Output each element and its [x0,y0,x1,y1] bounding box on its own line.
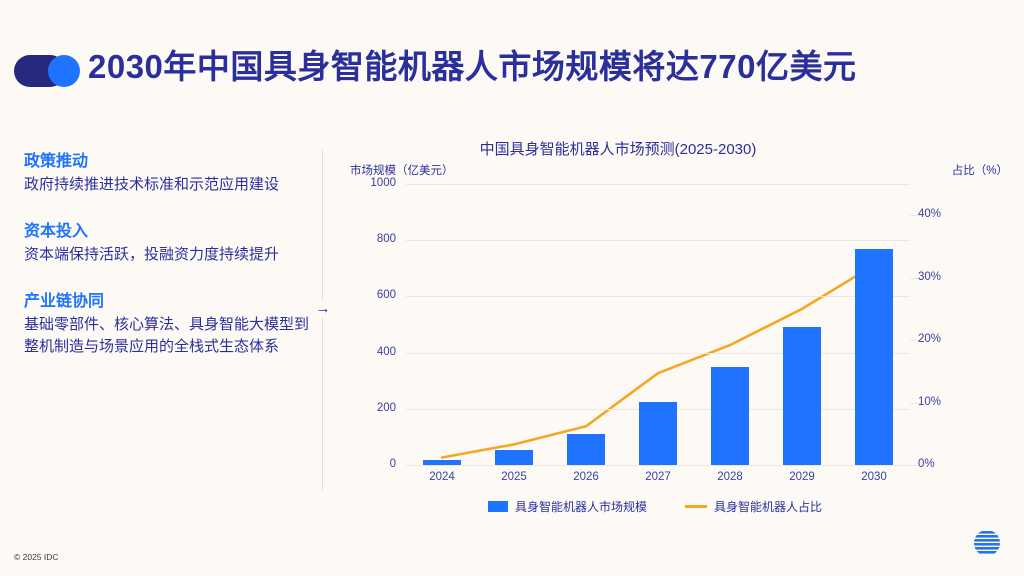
x-axis-tick: 2024 [412,471,472,483]
gridline [406,353,910,354]
insight-title: 产业链协同 [24,290,314,314]
page-title: 2030年中国具身智能机器人市场规模将达770亿美元 [88,40,856,88]
plot-area: 020040060080010000%10%20%30%40%202420252… [406,184,910,465]
chart-legend: 具身智能机器人市场规模 具身智能机器人占比 [488,498,822,515]
gridline [406,184,910,185]
insight-body: 基础零部件、核心算法、具身智能大模型到整机制造与场景应用的全栈式生态体系 [24,314,314,358]
legend-line-label: 具身智能机器人占比 [714,498,822,515]
x-axis-tick: 2029 [772,471,832,483]
copyright-text: © 2025 IDC [14,552,59,562]
insight-item-2: 资本投入 资本端保持活跃，投融资力度持续提升 [24,220,314,266]
chart-title: 中国具身智能机器人市场预测(2025-2030) [338,138,898,159]
y2-axis-tick: 0% [918,458,935,470]
y-axis-tick: 400 [336,346,404,358]
insight-body: 政府持续推进技术标准和示范应用建设 [24,174,314,196]
insight-title: 政策推动 [24,150,314,174]
legend-item-line: 具身智能机器人占比 [685,498,822,515]
bar [423,460,461,465]
arrow-right-icon: → [314,300,332,318]
gridline [406,465,910,466]
bar [711,367,749,465]
y2-axis-tick: 40% [918,208,941,220]
page-header: 2030年中国具身智能机器人市场规模将达770亿美元 [0,40,1024,102]
x-axis-tick: 2025 [484,471,544,483]
badge-dot-shape [48,55,80,87]
y-axis-tick: 800 [336,233,404,245]
legend-bar-label: 具身智能机器人市场规模 [515,498,647,515]
y2-axis-label: 占比（%） [952,162,1008,178]
y-axis-tick: 600 [336,289,404,301]
panel-divider [322,150,323,490]
bar [567,434,605,465]
bar [639,402,677,465]
x-axis-tick: 2026 [556,471,616,483]
bar [783,327,821,465]
legend-line-swatch-icon [685,505,707,508]
globe-logo-icon [972,528,1002,558]
title-badge-icon [14,55,82,87]
insight-body: 资本端保持活跃，投融资力度持续提升 [24,244,314,266]
gridline [406,296,910,297]
bar [855,249,893,465]
x-axis-tick: 2027 [628,471,688,483]
y-axis-label: 市场规模（亿美元） [350,162,454,178]
y-axis-tick: 1000 [336,177,404,189]
insight-item-1: 政策推动 政府持续推进技术标准和示范应用建设 [24,150,314,196]
x-axis-tick: 2030 [844,471,904,483]
insight-title: 资本投入 [24,220,314,244]
insights-panel: 政策推动 政府持续推进技术标准和示范应用建设 资本投入 资本端保持活跃，投融资力… [24,150,314,376]
insight-item-3: 产业链协同 基础零部件、核心算法、具身智能大模型到整机制造与场景应用的全栈式生态… [24,290,314,358]
gridline [406,240,910,241]
y2-axis-tick: 10% [918,396,941,408]
y2-axis-tick: 20% [918,333,941,345]
y2-axis-tick: 30% [918,271,941,283]
market-forecast-chart: 中国具身智能机器人市场预测(2025-2030) 市场规模（亿美元） 占比（%）… [338,130,1010,530]
bar [495,450,533,465]
y-axis-tick: 0 [336,458,404,470]
y-axis-tick: 200 [336,402,404,414]
x-axis-tick: 2028 [700,471,760,483]
legend-item-bar: 具身智能机器人市场规模 [488,498,647,515]
legend-bar-swatch-icon [488,501,508,512]
